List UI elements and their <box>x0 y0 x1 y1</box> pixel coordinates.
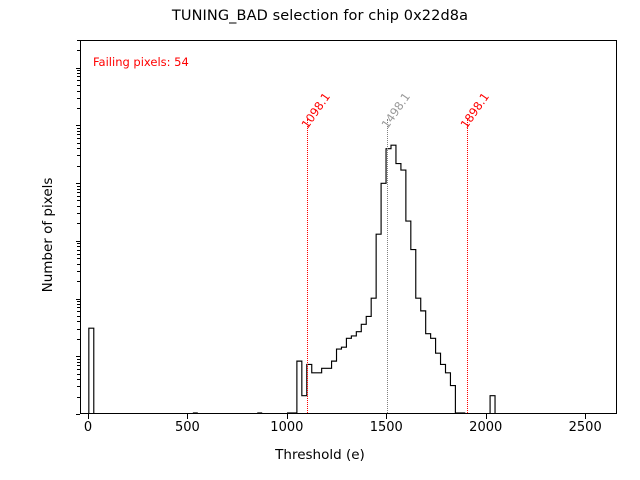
y-minor-tick-mark <box>77 131 80 132</box>
y-minor-tick-mark <box>77 206 80 207</box>
y-minor-tick-mark <box>77 307 80 308</box>
y-minor-tick-mark <box>77 301 80 302</box>
y-minor-tick-mark <box>77 379 80 380</box>
y-tick-mark <box>76 241 81 242</box>
y-minor-tick-mark <box>77 138 80 139</box>
y-minor-tick-mark <box>77 369 80 370</box>
y-minor-tick-mark <box>77 359 80 360</box>
x-tick-mark <box>88 414 89 419</box>
y-tick-mark <box>76 125 81 126</box>
y-minor-tick-mark <box>77 258 80 259</box>
y-minor-tick-mark <box>77 192 80 193</box>
marker-line-target <box>387 119 388 413</box>
y-minor-tick-mark <box>77 316 80 317</box>
x-tick-mark <box>187 414 188 419</box>
y-minor-tick-mark <box>77 76 80 77</box>
x-tick-label: 0 <box>84 420 92 435</box>
page-title: TUNING_BAD selection for chip 0x22d8a <box>0 8 640 24</box>
y-minor-tick-mark <box>77 166 80 167</box>
y-minor-tick-mark <box>77 73 80 74</box>
y-minor-tick-mark <box>77 246 80 247</box>
y-minor-tick-mark <box>77 329 80 330</box>
x-tick-mark <box>287 414 288 419</box>
y-minor-tick-mark <box>77 281 80 282</box>
y-minor-tick-mark <box>77 264 80 265</box>
histogram-svg <box>81 41 616 413</box>
histogram-outline <box>89 145 495 413</box>
y-minor-tick-mark <box>77 98 80 99</box>
y-minor-tick-mark <box>77 365 80 366</box>
y-minor-tick-mark <box>77 200 80 201</box>
y-tick-mark <box>76 299 81 300</box>
y-minor-tick-mark <box>77 80 80 81</box>
plot-area: Failing pixels: 54 1098.11498.11898.1 <box>80 40 617 414</box>
x-tick-label: 1500 <box>370 420 403 435</box>
y-minor-tick-mark <box>77 386 80 387</box>
y-minor-tick-mark <box>77 189 80 190</box>
y-minor-tick-mark <box>77 91 80 92</box>
y-minor-tick-mark <box>77 128 80 129</box>
marker-line-lower-cut <box>307 119 308 413</box>
y-tick-mark <box>76 414 81 415</box>
y-minor-tick-mark <box>77 321 80 322</box>
y-minor-tick-mark <box>77 362 80 363</box>
y-minor-tick-mark <box>77 243 80 244</box>
x-tick-label: 1000 <box>270 420 303 435</box>
y-tick-mark <box>76 68 81 69</box>
y-minor-tick-mark <box>77 223 80 224</box>
y-minor-tick-mark <box>77 196 80 197</box>
y-minor-tick-mark <box>77 213 80 214</box>
y-minor-tick-mark <box>77 108 80 109</box>
y-minor-tick-mark <box>77 311 80 312</box>
y-minor-tick-mark <box>77 155 80 156</box>
x-tick-label: 2500 <box>569 420 602 435</box>
y-tick-mark <box>76 183 81 184</box>
x-tick-mark <box>585 414 586 419</box>
y-minor-tick-mark <box>77 134 80 135</box>
y-axis-label: Number of pixels <box>40 175 56 295</box>
x-tick-label: 2000 <box>469 420 502 435</box>
marker-line-upper-cut <box>467 119 468 413</box>
y-minor-tick-mark <box>77 148 80 149</box>
y-minor-tick-mark <box>77 250 80 251</box>
figure-canvas: TUNING_BAD selection for chip 0x22d8a Fa… <box>0 0 640 480</box>
y-minor-tick-mark <box>77 143 80 144</box>
y-minor-tick-mark <box>77 70 80 71</box>
x-tick-label: 500 <box>175 420 200 435</box>
y-minor-tick-mark <box>77 50 80 51</box>
y-minor-tick-mark <box>77 40 80 41</box>
y-minor-tick-mark <box>77 254 80 255</box>
y-minor-tick-mark <box>77 304 80 305</box>
y-minor-tick-mark <box>77 374 80 375</box>
y-tick-mark <box>76 356 81 357</box>
x-tick-mark <box>486 414 487 419</box>
y-minor-tick-mark <box>77 339 80 340</box>
y-minor-tick-mark <box>77 271 80 272</box>
x-tick-mark <box>386 414 387 419</box>
x-axis-label: Threshold (e) <box>0 447 640 463</box>
y-minor-tick-mark <box>77 85 80 86</box>
y-minor-tick-mark <box>77 397 80 398</box>
y-minor-tick-mark <box>77 186 80 187</box>
